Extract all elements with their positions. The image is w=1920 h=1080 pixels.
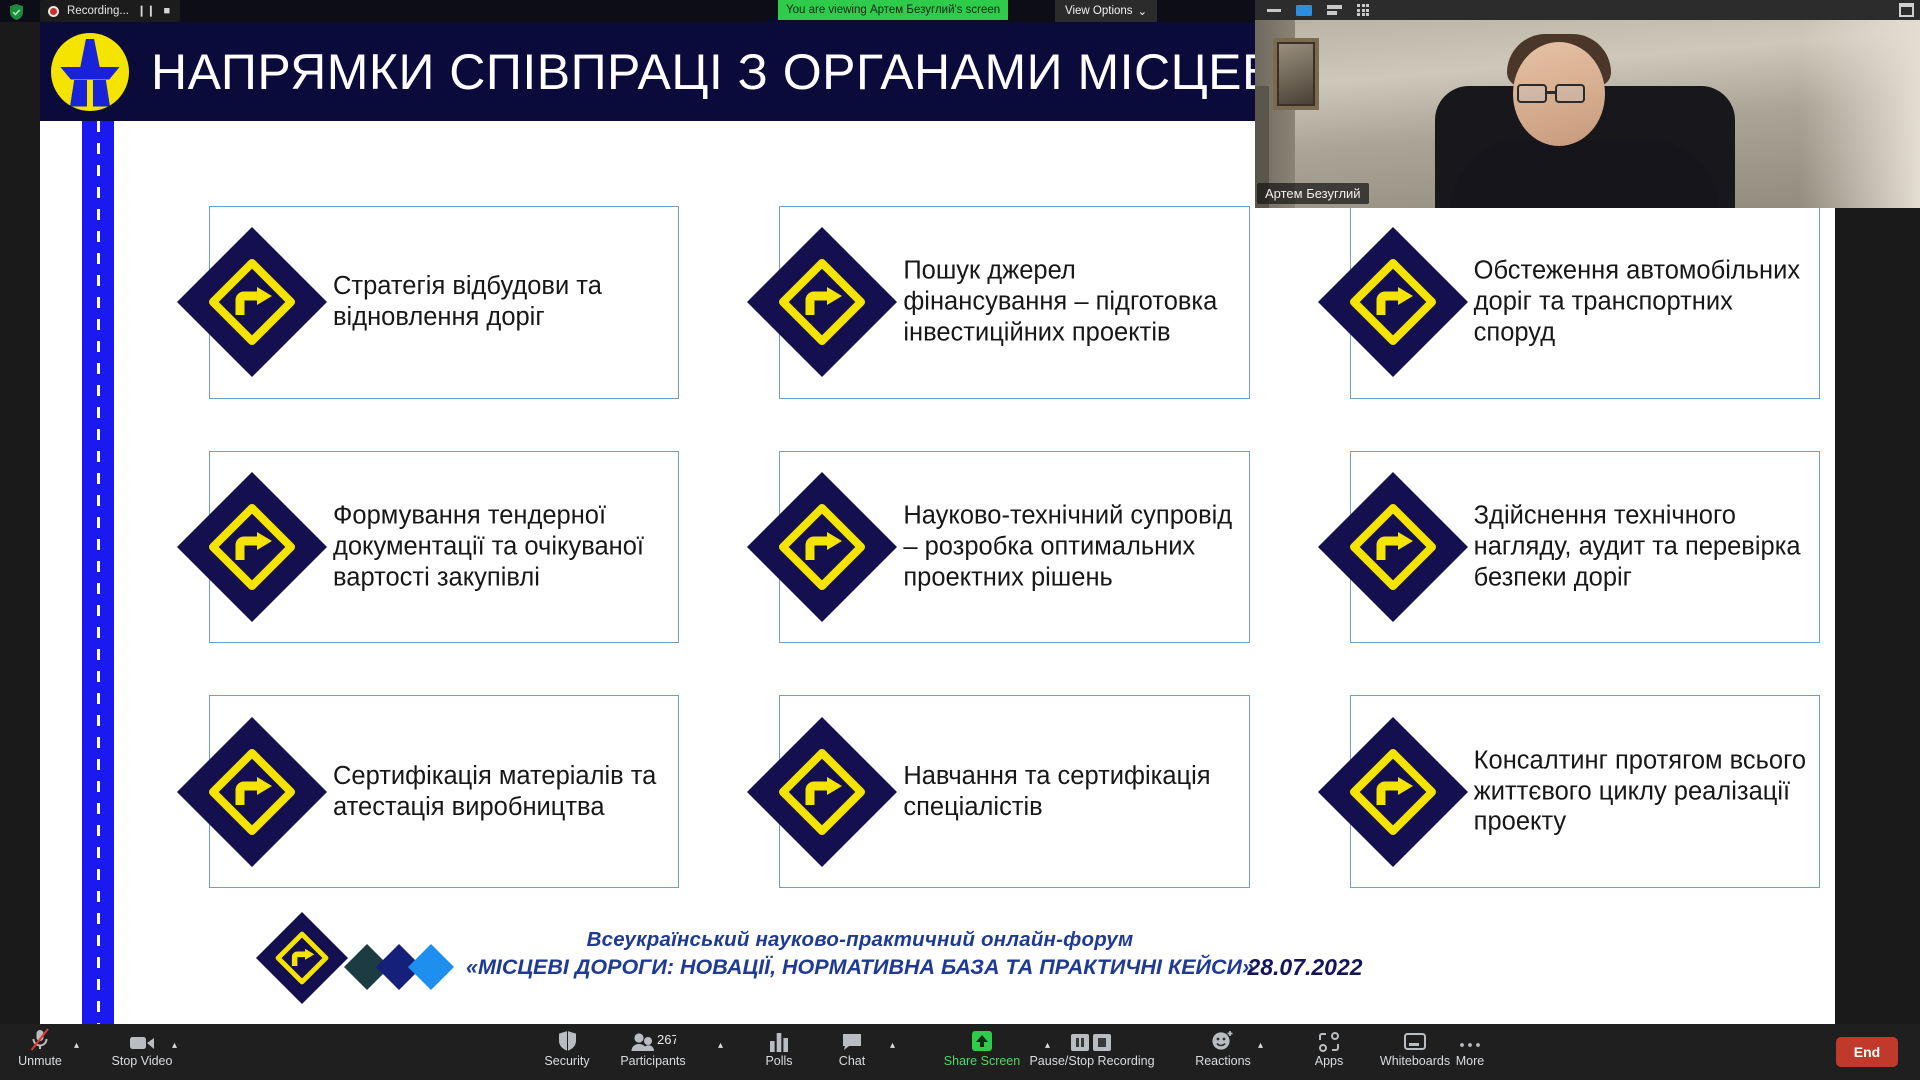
speaker-view-icon[interactable]: [1289, 0, 1319, 20]
reactions-label: Reactions: [1195, 1055, 1251, 1068]
recording-dot-icon: [48, 6, 59, 17]
participants-chevron-icon[interactable]: ▴: [718, 1040, 723, 1051]
participant-video-tile[interactable]: Артем Безуглий: [1255, 20, 1920, 208]
whiteboards-label: Whiteboards: [1380, 1055, 1450, 1068]
list-item: Обстеження автомобільних доріг та трансп…: [1318, 192, 1822, 413]
reactions-smiley-icon: [1211, 1028, 1235, 1052]
glasses-left-lens: [1517, 84, 1547, 103]
more-label: More: [1456, 1055, 1484, 1068]
self-video-panel[interactable]: Артем Безуглий: [1255, 0, 1920, 208]
polls-button[interactable]: Polls: [758, 1028, 800, 1078]
end-meeting-button[interactable]: End: [1836, 1037, 1898, 1067]
pause-stop-recording-label: Pause/Stop Recording: [1029, 1055, 1154, 1068]
reactions-chevron-icon[interactable]: ▴: [1258, 1040, 1263, 1051]
list-item: Здійснення технічного нагляду, аудит та …: [1318, 437, 1822, 658]
stop-video-button[interactable]: Stop Video: [106, 1028, 178, 1078]
pause-stop-recording-icon: [1069, 1028, 1115, 1052]
zoom-bottom-toolbar: Unmute ▴ Stop Video ▴ Security 267 P: [0, 1024, 1920, 1080]
turn-right-arrow-diamond-icon: [1318, 227, 1468, 377]
turn-right-arrow-diamond-icon: [177, 717, 327, 867]
reactions-button[interactable]: Reactions: [1190, 1028, 1256, 1078]
security-button[interactable]: Security: [537, 1028, 597, 1078]
slide-date: 28.07.2022: [1140, 954, 1470, 981]
stop-icon[interactable]: ■: [163, 6, 170, 17]
pause-icon[interactable]: ❙❙: [137, 6, 155, 17]
list-item-label: Сертифікація матеріалів та атестація вир…: [333, 761, 675, 823]
cooperation-areas-grid: Стратегія відбудови та відновлення доріг…: [177, 192, 1822, 902]
recording-label: Recording...: [67, 5, 129, 17]
highway-road-logo-icon: [51, 33, 129, 111]
forum-subtitle: Всеукраїнський науково-практичний онлайн…: [420, 928, 1300, 952]
page-title: НАПРЯМКИ СПІВПРАЦІ З ОРГАНАМИ МІСЦЕВОЇ В: [151, 43, 1376, 101]
bar-chart-icon: [769, 1028, 789, 1052]
glasses-right-lens: [1555, 84, 1585, 103]
end-label: End: [1854, 1044, 1880, 1060]
unmute-label: Unmute: [18, 1055, 62, 1068]
slide-footer: Всеукраїнський науково-практичний онлайн…: [40, 906, 1835, 1024]
wall-picture: [1273, 38, 1319, 110]
shield-icon: [558, 1028, 577, 1052]
turn-right-arrow-diamond-icon: [747, 472, 897, 622]
list-item: Сертифікація матеріалів та атестація вир…: [177, 681, 681, 902]
whiteboard-icon: [1403, 1028, 1427, 1052]
participants-label: Participants: [620, 1055, 685, 1068]
list-item-label: Здійснення технічного нагляду, аудит та …: [1474, 501, 1816, 594]
list-item-label: Консалтинг протягом всього життєвого цик…: [1474, 745, 1816, 838]
turn-right-arrow-diamond-icon: [1318, 472, 1468, 622]
view-options-button[interactable]: View Options ⌄: [1055, 0, 1157, 22]
audio-options-chevron-icon[interactable]: ▴: [74, 1040, 79, 1051]
turn-right-arrow-diamond-icon: [177, 472, 327, 622]
share-screen-label: Share Screen: [944, 1055, 1020, 1068]
unmute-button[interactable]: Unmute: [14, 1028, 66, 1078]
more-button[interactable]: More: [1442, 1028, 1498, 1078]
list-item-label: Науково-технічний супровід – розробка оп…: [903, 501, 1245, 594]
list-item-label: Обстеження автомобільних доріг та трансп…: [1474, 256, 1816, 349]
chat-button[interactable]: Chat: [830, 1028, 874, 1078]
recording-indicator: Recording... ❙❙ ■: [40, 0, 180, 22]
list-item: Стратегія відбудови та відновлення доріг: [177, 192, 681, 413]
shield-check-icon[interactable]: [8, 4, 24, 20]
more-ellipsis-icon: [1458, 1028, 1482, 1052]
gallery-grid-icon[interactable]: [1349, 0, 1379, 20]
share-screen-up-arrow-icon: [969, 1028, 995, 1052]
polls-label: Polls: [765, 1055, 792, 1068]
video-panel-header: [1255, 0, 1920, 20]
chat-bubble-icon: [841, 1028, 863, 1052]
list-item: Пошук джерел фінансування – підготовка і…: [747, 192, 1251, 413]
turn-right-arrow-diamond-icon: [747, 227, 897, 377]
list-item-label: Стратегія відбудови та відновлення доріг: [333, 271, 675, 333]
minimize-icon[interactable]: [1259, 0, 1289, 20]
apps-icon: [1318, 1028, 1340, 1052]
pause-stop-recording-button[interactable]: Pause/Stop Recording: [1012, 1028, 1172, 1078]
svg-text:267: 267: [657, 1032, 676, 1047]
turn-right-arrow-diamond-icon: [256, 912, 348, 1004]
apps-label: Apps: [1315, 1055, 1344, 1068]
list-item: Навчання та сертифікація спеціалістів: [747, 681, 1251, 902]
list-item: Науково-технічний супровід – розробка оп…: [747, 437, 1251, 658]
chevron-down-icon: ⌄: [1138, 4, 1148, 18]
chat-chevron-icon[interactable]: ▴: [890, 1040, 895, 1051]
apps-button[interactable]: Apps: [1290, 1028, 1368, 1078]
view-options-label: View Options: [1065, 5, 1133, 17]
list-item: Консалтинг протягом всього життєвого цик…: [1318, 681, 1822, 902]
security-label: Security: [544, 1055, 589, 1068]
video-options-chevron-icon[interactable]: ▴: [172, 1040, 177, 1051]
turn-right-arrow-diamond-icon: [1318, 717, 1468, 867]
video-camera-icon: [129, 1028, 155, 1052]
road-stripe-decoration: [66, 121, 122, 1024]
list-item-label: Пошук джерел фінансування – підготовка і…: [903, 256, 1245, 349]
list-item-label: Навчання та сертифікація спеціалістів: [903, 761, 1245, 823]
filmstrip-view-icon[interactable]: [1319, 0, 1349, 20]
list-item-label: Формування тендерної документації та очі…: [333, 501, 675, 594]
participants-icon: 267: [630, 1028, 676, 1052]
viewing-screen-notice: You are viewing Артем Безуглий's screen: [778, 0, 1008, 20]
exit-fullscreen-icon[interactable]: [1899, 3, 1914, 17]
list-item: Формування тендерної документації та очі…: [177, 437, 681, 658]
microphone-muted-icon: [29, 1028, 51, 1052]
stop-video-label: Stop Video: [112, 1055, 173, 1068]
turn-right-arrow-diamond-icon: [177, 227, 327, 377]
participant-name-label: Артем Безуглий: [1257, 183, 1369, 204]
participants-button[interactable]: 267 Participants: [614, 1028, 692, 1078]
turn-right-arrow-diamond-icon: [747, 717, 897, 867]
chat-label: Chat: [839, 1055, 865, 1068]
